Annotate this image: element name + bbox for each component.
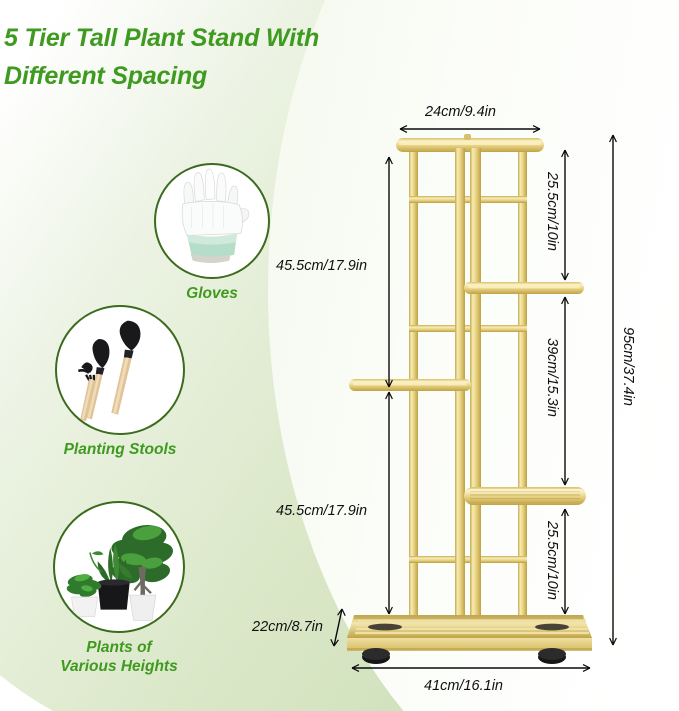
dim-total-height: 95cm/37.4in [620,327,636,406]
dim-gap-2: 39cm/15.3in [544,338,560,417]
dim-base-width: 41cm/16.1in [424,678,503,694]
brace-rear-mid [409,325,527,332]
plant-stand-diagram [0,0,679,711]
shelf-tier-2 [464,487,586,505]
dim-lower-left-height: 45.5cm/17.9in [276,503,367,519]
dim-base-depth: 22cm/8.7in [252,619,323,635]
dim-upper-left-height: 45.5cm/17.9in [276,258,367,274]
base-platform [347,615,592,664]
shelf-tier-4 [464,282,584,294]
dim-gap-1: 25.5cm/10in [544,172,560,251]
post-rear-right [518,148,527,618]
shelf-tier-3 [349,379,471,391]
dim-top-width: 24cm/9.4in [425,104,496,120]
post-front-center [470,148,481,618]
brace-rear-upper [409,196,527,203]
infographic-canvas: 5 Tier Tall Plant Stand With Different S… [0,0,679,711]
dim-gap-3: 25.5cm/10in [544,521,560,600]
brace-rear-lower [409,556,527,563]
